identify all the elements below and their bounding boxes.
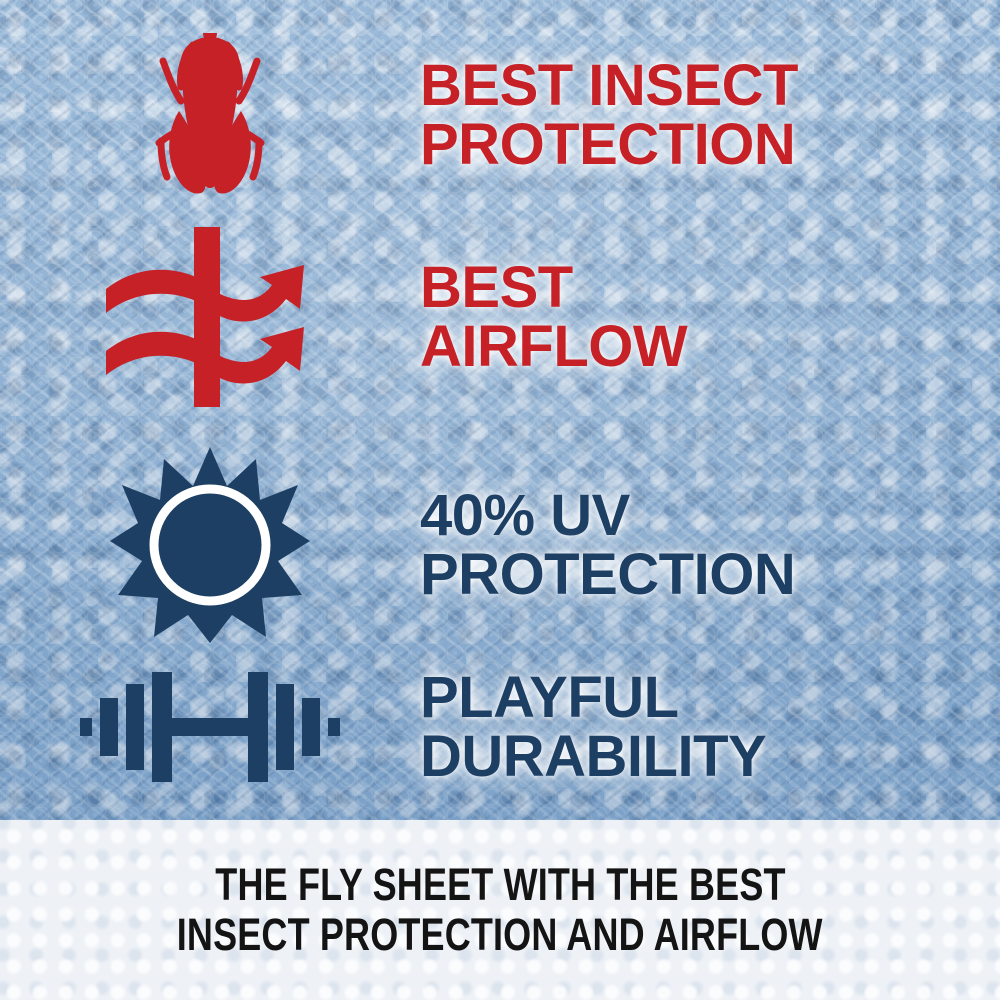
feature-line: DURABILITY [420,727,1000,786]
airflow-icon [100,227,320,407]
feature-row-durability: PLAYFUL DURABILITY [0,652,1000,802]
bottom-banner: THE FLY SHEET WITH THE BEST INSECT PROTE… [0,820,1000,1000]
banner-line: THE FLY SHEET WITH THE BEST [215,861,785,909]
feature-line: AIRFLOW [420,317,1000,376]
feature-line: PLAYFUL [420,668,1000,727]
banner-content: THE FLY SHEET WITH THE BEST INSECT PROTE… [0,820,1000,1000]
banner-line: INSECT PROTECTION AND AIRFLOW [177,911,823,959]
feature-text-airflow: BEST AIRFLOW [420,258,1000,376]
feature-line: BEST INSECT [420,56,1000,115]
feature-line: 40% UV [420,486,1000,545]
feature-line: PROTECTION [420,545,1000,604]
icon-cell-uv-protection [0,445,420,645]
icon-cell-airflow [0,227,420,407]
feature-line: PROTECTION [420,115,1000,174]
icon-cell-insect-protection [0,23,420,208]
feature-row-insect-protection: BEST INSECT PROTECTION [0,20,1000,210]
dumbbell-icon [80,662,340,792]
feature-line: BEST [420,258,1000,317]
icon-cell-durability [0,662,420,792]
feature-list: BEST INSECT PROTECTION BEST AIRFLOW [0,0,1000,820]
feature-row-airflow: BEST AIRFLOW [0,222,1000,412]
feature-text-insect-protection: BEST INSECT PROTECTION [420,56,1000,174]
fly-icon [135,23,285,208]
infographic-poster: BEST INSECT PROTECTION BEST AIRFLOW [0,0,1000,1000]
feature-text-uv-protection: 40% UV PROTECTION [420,486,1000,604]
sun-icon [110,445,310,645]
feature-text-durability: PLAYFUL DURABILITY [420,668,1000,786]
feature-row-uv-protection: 40% UV PROTECTION [0,440,1000,650]
